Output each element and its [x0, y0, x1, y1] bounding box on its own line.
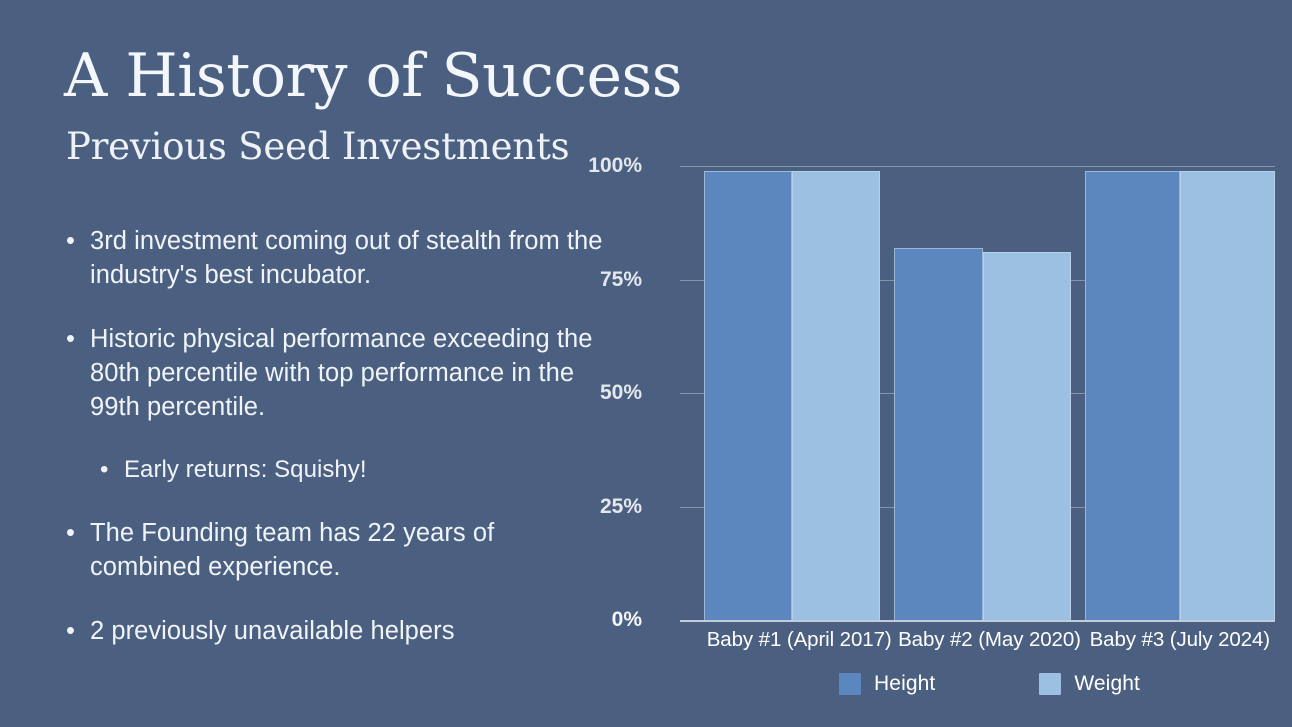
- bar-groups: [704, 166, 1275, 620]
- bar-baby1-weight[interactable]: [792, 171, 880, 620]
- chart-legend: Height Weight: [704, 672, 1275, 696]
- bar-group-baby2: [894, 166, 1084, 620]
- list-item: • The Founding team has 22 years of comb…: [62, 516, 607, 584]
- list-item-text: The Founding team has 22 years of combin…: [90, 519, 494, 581]
- legend-swatch-weight: [1039, 673, 1061, 695]
- y-axis-tick-0: 0%: [612, 608, 642, 632]
- x-axis-label-baby1: Baby #1 (April 2017): [704, 628, 894, 652]
- plot-area: 100% 75% 50% 25% 0%: [704, 166, 1275, 620]
- y-axis-tick-75: 75%: [600, 268, 642, 292]
- bullet-icon: •: [66, 322, 75, 356]
- bullet-list: • 3rd investment coming out of stealth f…: [62, 224, 607, 678]
- list-item-nested: • Early returns: Squishy!: [62, 454, 607, 486]
- list-item: • 2 previously unavailable helpers: [62, 614, 607, 648]
- list-item: • Historic physical performance exceedin…: [62, 322, 607, 424]
- x-axis-label-baby3: Baby #3 (July 2024): [1085, 628, 1275, 652]
- slide-root: A History of Success Previous Seed Inves…: [0, 0, 1292, 727]
- bar-group-baby3: [1085, 166, 1275, 620]
- y-axis-tick-100: 100%: [588, 154, 642, 178]
- legend-label-weight: Weight: [1074, 672, 1140, 696]
- bar-baby2-weight[interactable]: [983, 252, 1071, 620]
- page-title: A History of Success: [64, 44, 682, 109]
- bar-baby3-height[interactable]: [1085, 171, 1180, 620]
- list-item-text: 2 previously unavailable helpers: [90, 617, 455, 645]
- list-item-text: 3rd investment coming out of stealth fro…: [90, 227, 603, 289]
- page-subtitle: Previous Seed Investments: [66, 126, 569, 167]
- x-axis-labels: Baby #1 (April 2017) Baby #2 (May 2020) …: [704, 628, 1275, 652]
- axis-baseline-0: 0%: [680, 620, 1275, 622]
- bullet-icon: •: [66, 224, 75, 258]
- bar-group-baby1: [704, 166, 894, 620]
- list-item: • 3rd investment coming out of stealth f…: [62, 224, 607, 292]
- content-column: A History of Success Previous Seed Inves…: [0, 0, 620, 727]
- bar-baby3-weight[interactable]: [1180, 171, 1275, 620]
- legend-item-weight[interactable]: Weight: [1039, 672, 1140, 696]
- legend-label-height: Height: [874, 672, 935, 696]
- legend-item-height[interactable]: Height: [839, 672, 935, 696]
- bar-baby1-height[interactable]: [704, 171, 792, 620]
- y-axis-tick-50: 50%: [600, 381, 642, 405]
- x-axis-label-baby2: Baby #2 (May 2020): [894, 628, 1084, 652]
- bullet-icon: •: [100, 454, 108, 486]
- legend-swatch-height: [839, 673, 861, 695]
- bar-chart: 100% 75% 50% 25% 0%: [620, 0, 1292, 727]
- list-item-text: Early returns: Squishy!: [124, 456, 367, 483]
- bullet-icon: •: [66, 614, 75, 648]
- list-item-text: Historic physical performance exceeding …: [90, 325, 592, 421]
- y-axis-tick-25: 25%: [600, 495, 642, 519]
- bar-baby2-height[interactable]: [894, 248, 982, 620]
- bullet-icon: •: [66, 516, 75, 550]
